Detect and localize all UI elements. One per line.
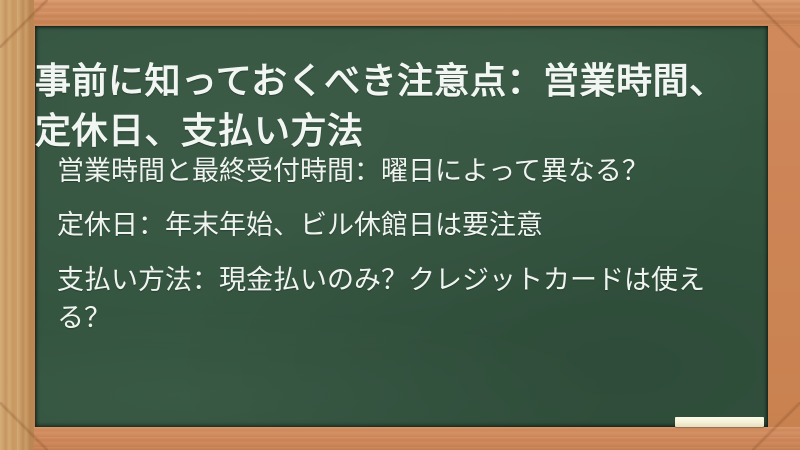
frame-stile-left (0, 0, 34, 450)
slide-title: 事前に知っておくべき注意点：営業時間、定休日、支払い方法 (35, 56, 735, 155)
bullet-item-regular-holiday: 定休日：年末年始、ビル休館日は要注意 (57, 206, 747, 244)
bullet-item-payment-method: 支払い方法：現金払いのみ？クレジットカードは使える？ (57, 261, 747, 338)
frame-stile-right (768, 0, 800, 450)
frame-rail-top (0, 0, 800, 26)
bullet-item-business-hours: 営業時間と最終受付時間：曜日によって異なる？ (57, 152, 747, 190)
chalkboard-slide: 事前に知っておくべき注意点：営業時間、定休日、支払い方法 営業時間と最終受付時間… (0, 0, 800, 450)
chalk-stick (675, 417, 764, 427)
frame-rail-bottom (0, 427, 800, 450)
chalkboard-surface: 事前に知っておくべき注意点：営業時間、定休日、支払い方法 営業時間と最終受付時間… (35, 26, 768, 427)
bullet-list: 営業時間と最終受付時間：曜日によって異なる？ 定休日：年末年始、ビル休館日は要注… (57, 152, 747, 337)
